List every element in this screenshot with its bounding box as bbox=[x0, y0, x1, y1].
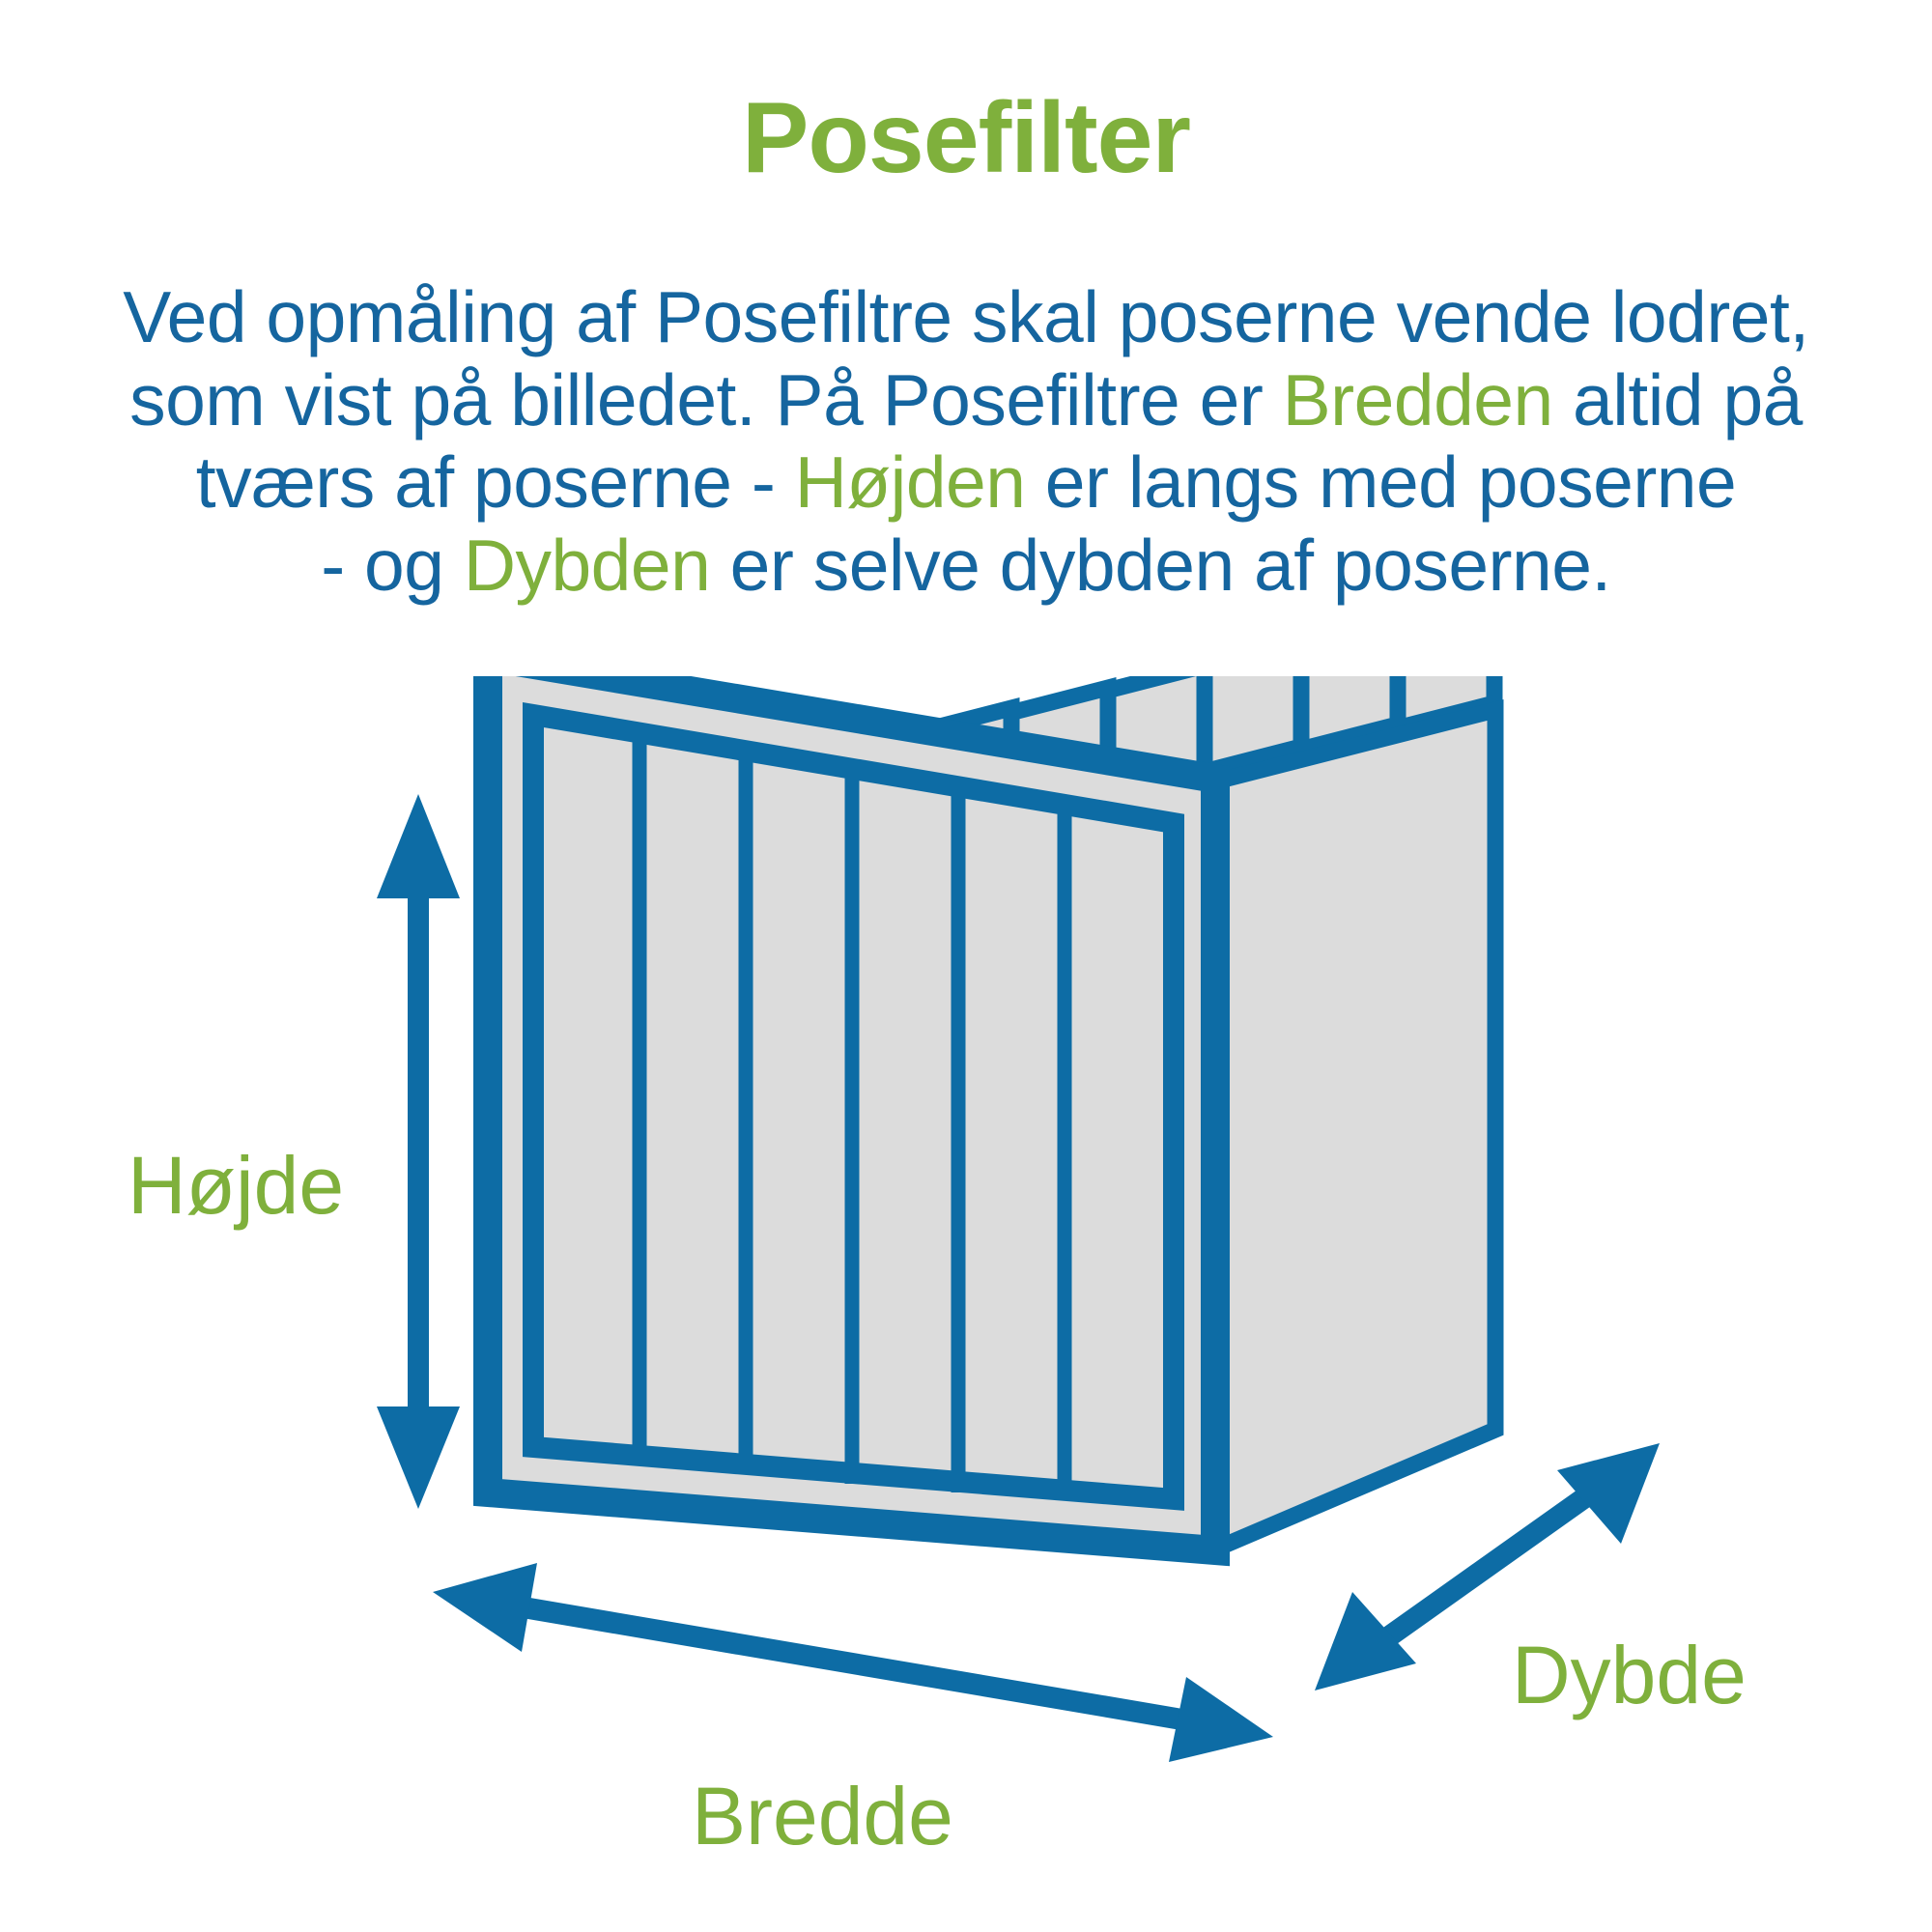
highlight-dybden: Dybden bbox=[464, 525, 711, 606]
label-bredde: Bredde bbox=[692, 1776, 953, 1857]
filter-depth-side-panel bbox=[1212, 710, 1495, 1550]
intro-line-4-post: er selve dybden af poserne. bbox=[710, 525, 1610, 606]
poster-canvas: Posefilter Ved opmåling af Posefiltre sk… bbox=[0, 0, 1932, 1932]
highlight-bredden: Bredden bbox=[1283, 359, 1553, 440]
intro-line-2-post: altid på bbox=[1553, 359, 1803, 440]
label-dybde: Dybde bbox=[1512, 1634, 1747, 1716]
highlight-hojden: Højden bbox=[795, 441, 1026, 523]
intro-line-1: Ved opmåling af Posefiltre skal poserne … bbox=[123, 276, 1808, 357]
bag-filter-diagram bbox=[0, 676, 1932, 1932]
page-title: Posefilter bbox=[0, 83, 1932, 193]
intro-line-3-post: er langs med poserne bbox=[1025, 441, 1736, 523]
width-arrow bbox=[433, 1563, 1273, 1762]
height-arrow bbox=[377, 794, 460, 1509]
intro-paragraph: Ved opmåling af Posefiltre skal poserne … bbox=[68, 276, 1864, 607]
intro-line-2-pre: som vist på billedet. På Posefiltre er bbox=[129, 359, 1283, 440]
intro-line-4-pre: - og bbox=[321, 525, 464, 606]
intro-line-3-pre: tværs af poserne - bbox=[196, 441, 795, 523]
label-hojde: Højde bbox=[128, 1145, 344, 1226]
